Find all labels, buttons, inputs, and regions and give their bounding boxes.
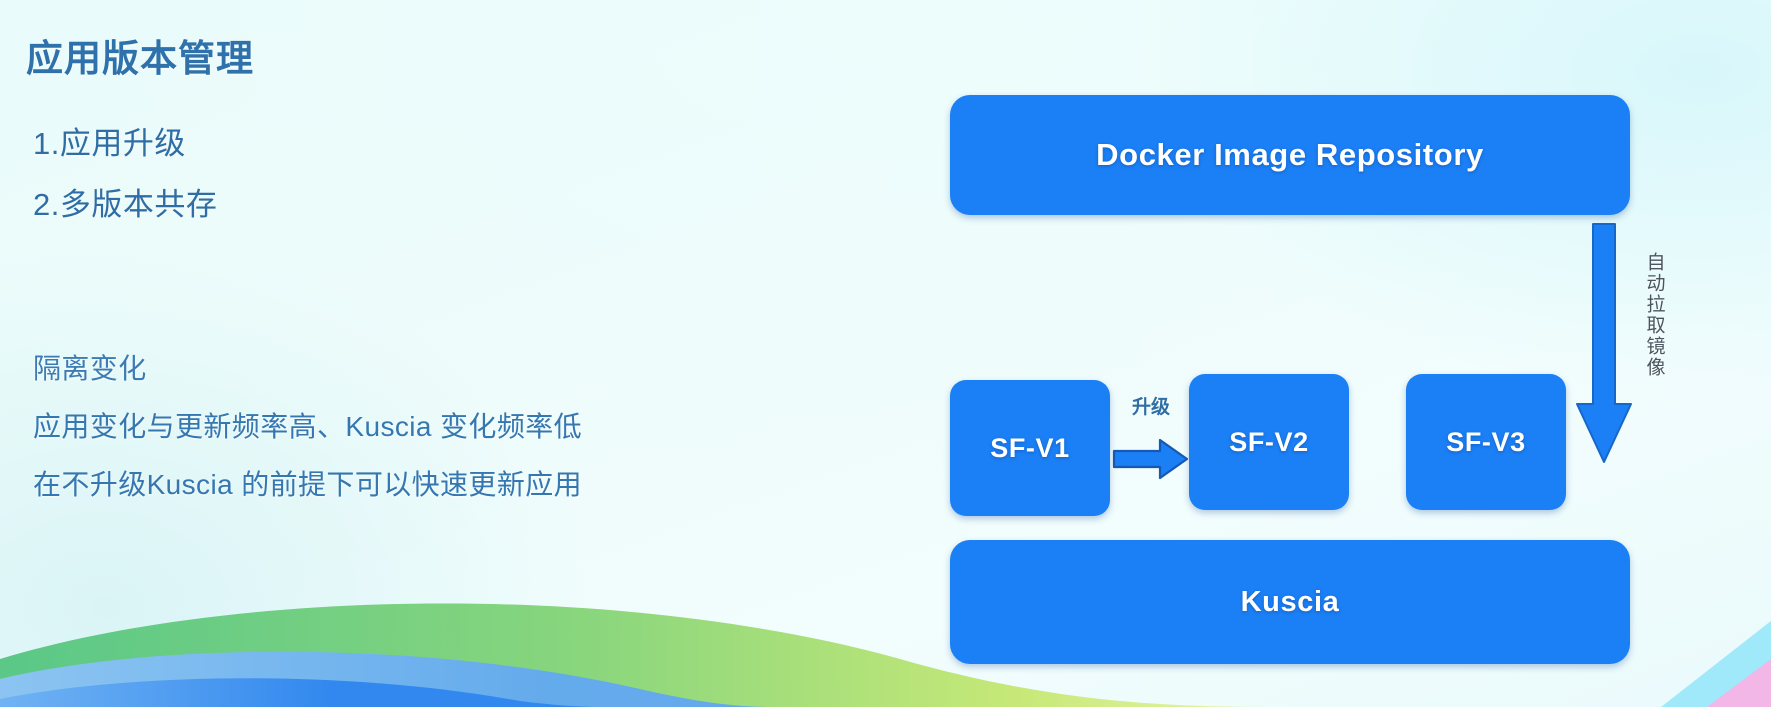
arrow-down-icon [1575, 222, 1633, 467]
architecture-diagram: Docker Image Repository SF-V1 SF-V2 SF-V… [840, 0, 1771, 707]
pull-image-edge-label: 自动拉取镜像 [1643, 252, 1664, 378]
upgrade-edge-label: 升级 [1132, 392, 1170, 419]
arrow-right-icon [1112, 436, 1190, 482]
note-line: 在不升级Kuscia 的前提下可以快速更新应用 [33, 471, 793, 499]
sf-v3-node[interactable]: SF-V3 [1406, 374, 1566, 510]
left-content-panel: 应用版本管理 1.应用升级 2.多版本共存 隔离变化 应用变化与更新频率高、Ku… [0, 0, 840, 707]
kuscia-node[interactable]: Kuscia [950, 540, 1630, 664]
pull-image-edge: 自动拉取镜像 [1575, 222, 1715, 467]
note-line: 应用变化与更新频率高、Kuscia 变化频率低 [33, 413, 793, 441]
slide-canvas: 应用版本管理 1.应用升级 2.多版本共存 隔离变化 应用变化与更新频率高、Ku… [0, 0, 1771, 707]
page-title: 应用版本管理 [26, 28, 254, 82]
sf-v2-node[interactable]: SF-V2 [1189, 374, 1349, 510]
sf-v1-node[interactable]: SF-V1 [950, 380, 1110, 516]
docker-image-repository-node[interactable]: Docker Image Repository [950, 95, 1630, 215]
upgrade-edge: 升级 [1112, 392, 1190, 512]
notes-block: 隔离变化 应用变化与更新频率高、Kuscia 变化频率低 在不升级Kuscia … [33, 355, 793, 529]
list-item: 2.多版本共存 [33, 189, 633, 220]
list-item: 1.应用升级 [33, 128, 633, 159]
note-heading: 隔离变化 [33, 355, 793, 383]
numbered-list: 1.应用升级 2.多版本共存 [33, 128, 633, 250]
